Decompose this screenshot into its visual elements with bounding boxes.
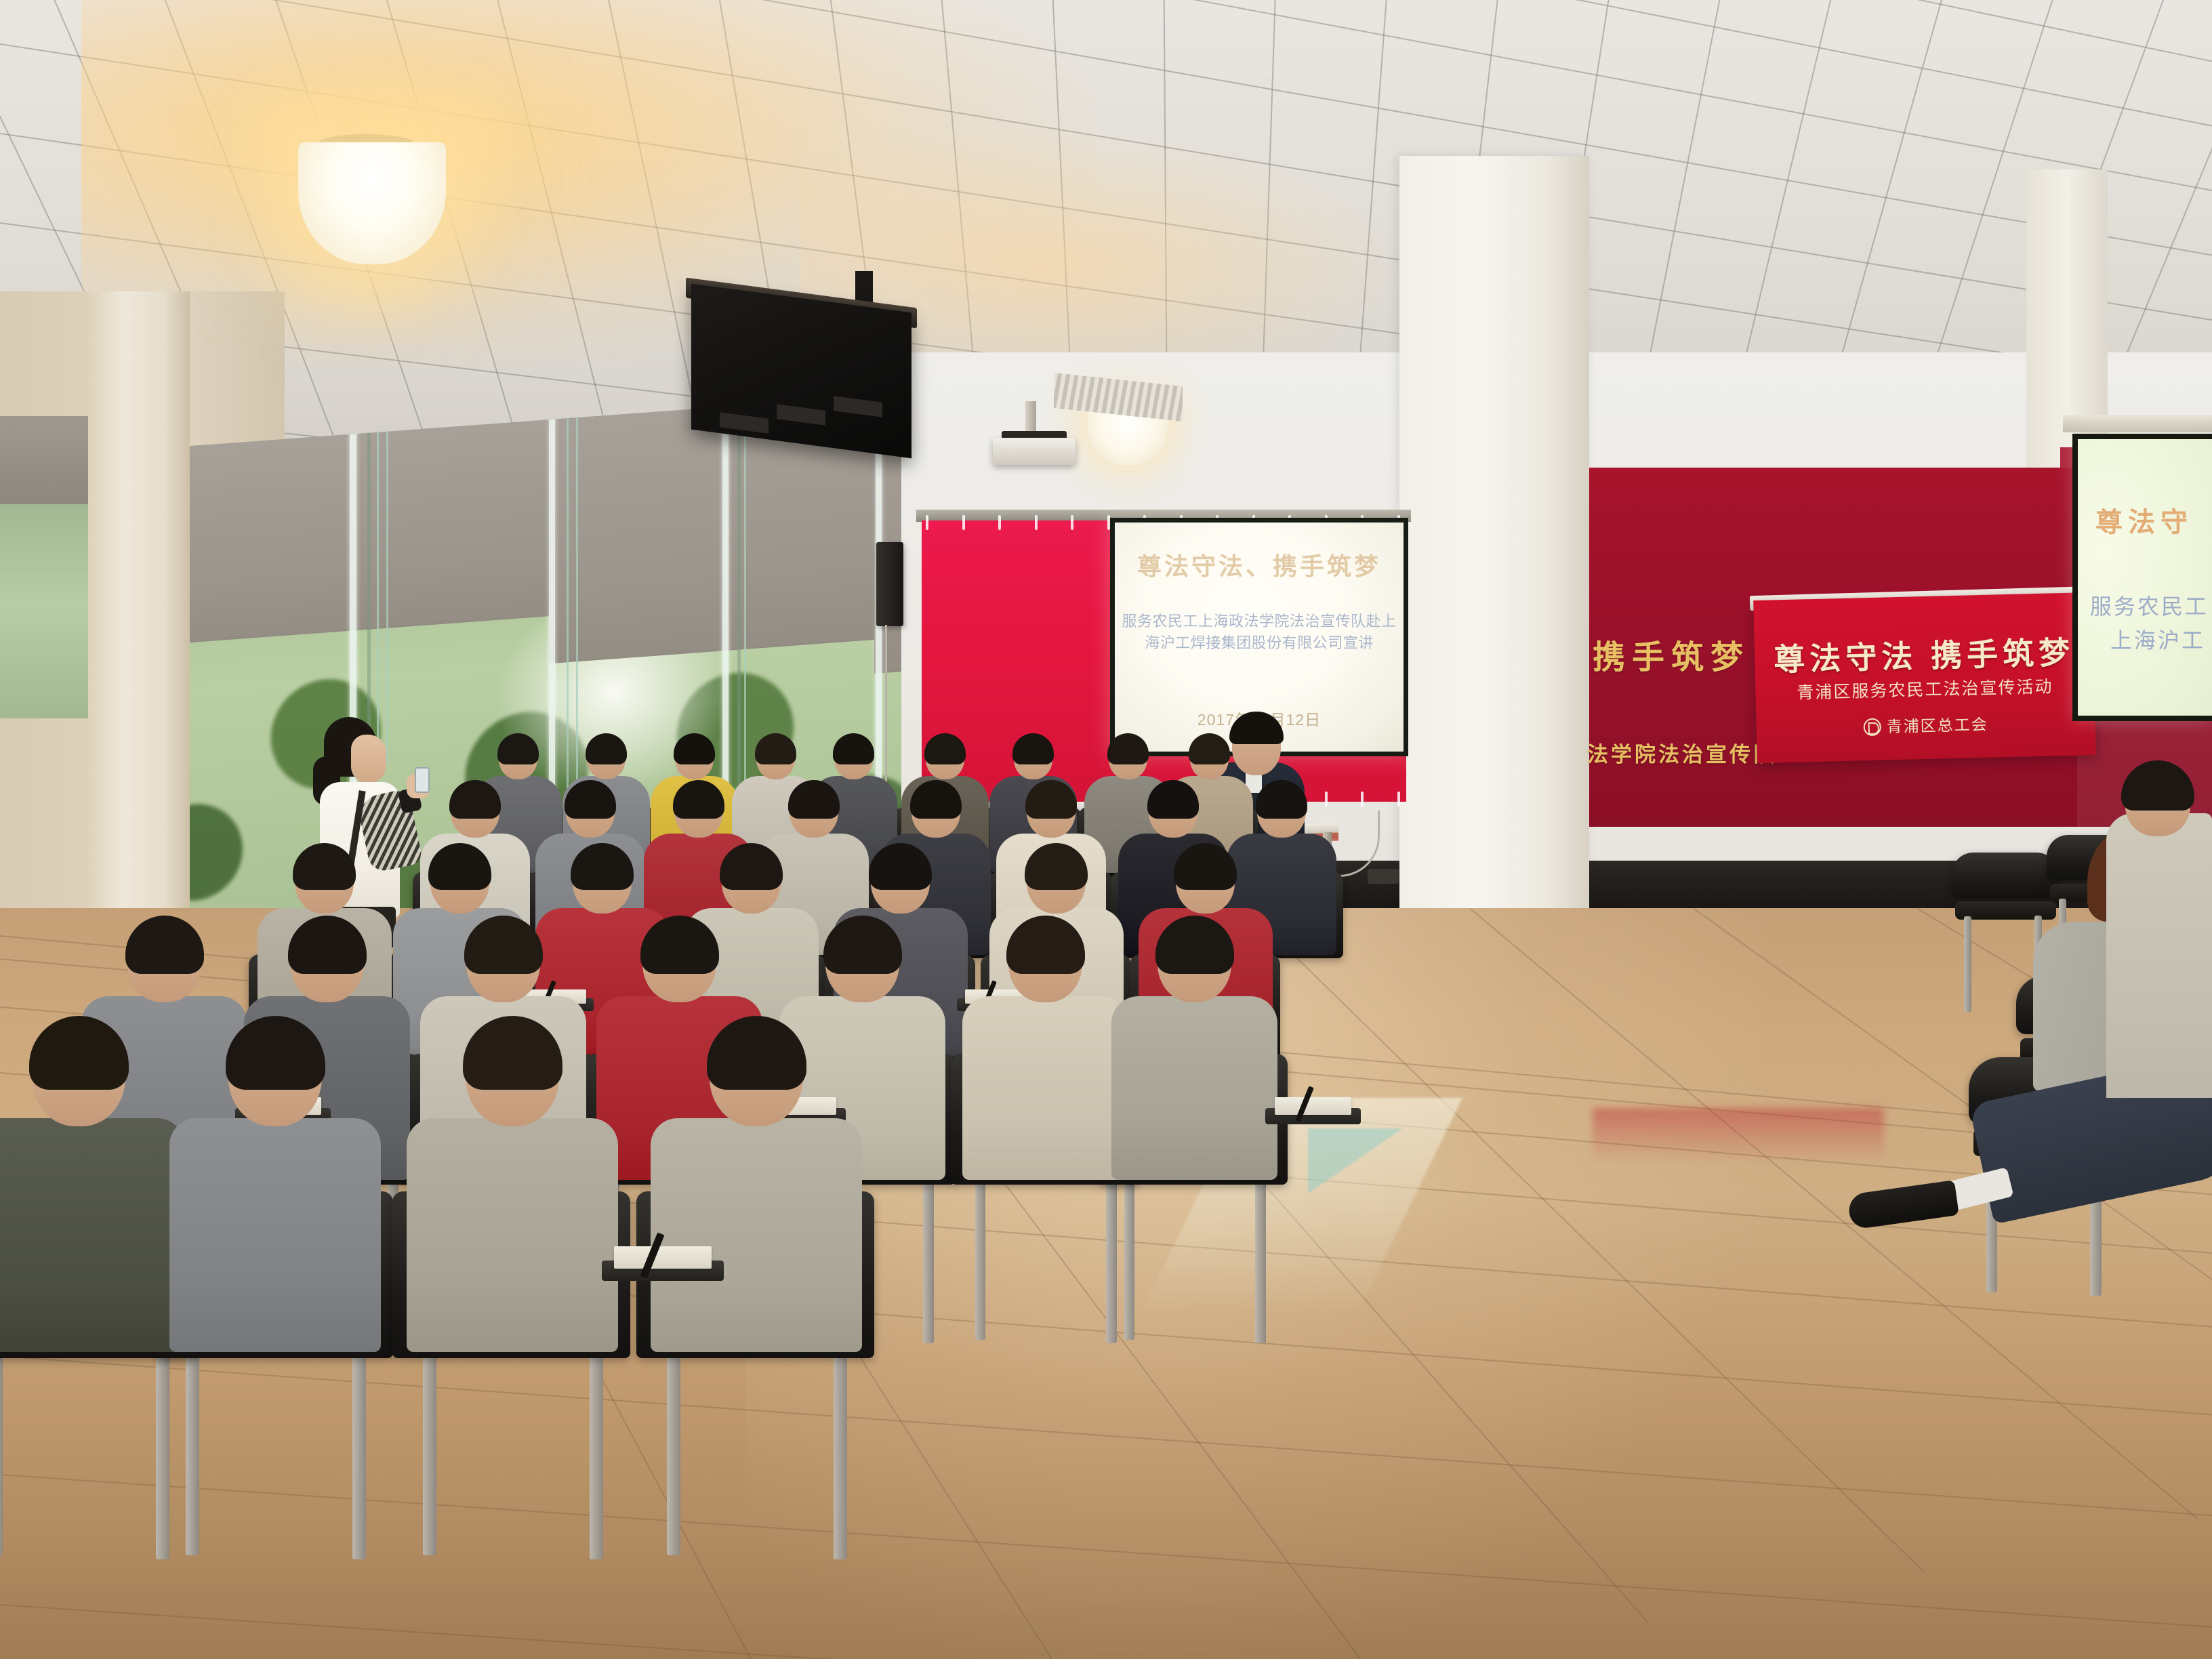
- chair-leg: [1255, 1179, 1265, 1343]
- roller-blind-1[interactable]: [183, 413, 549, 644]
- chair-leg: [0, 1352, 3, 1555]
- notebook[interactable]: [614, 1246, 712, 1269]
- blind-cord-4[interactable]: [576, 417, 578, 783]
- wall-speaker: [876, 542, 903, 626]
- blind-cord-5[interactable]: [744, 405, 746, 812]
- chair-leg: [834, 1350, 847, 1559]
- notebook[interactable]: [1275, 1097, 1351, 1115]
- chair-leg: [1106, 1179, 1116, 1343]
- audience-member-torso: [0, 1118, 184, 1352]
- blind-cord-3[interactable]: [567, 418, 569, 798]
- banner-reflection-on-floor: [1593, 1108, 1884, 1162]
- left-window-blind[interactable]: [0, 416, 88, 504]
- slide-right-title: 尊法守: [2095, 500, 2193, 539]
- audience-member-torso: [651, 1118, 862, 1352]
- backdrop-gold-line2: 法学院法治宣传队: [1587, 737, 1777, 768]
- ceiling-tile-line: [0, 0, 2212, 50]
- banner-title: 尊法守法 携手筑梦: [1754, 628, 2093, 680]
- phone-icon[interactable]: [415, 767, 430, 793]
- photographer-face: [351, 735, 386, 783]
- banner-organization: 青浦区总工会: [1756, 709, 2095, 740]
- structural-pillar-left: [88, 291, 190, 1010]
- chair-leg: [1124, 1180, 1134, 1340]
- blind-cord-2[interactable]: [386, 432, 388, 764]
- audience-member-torso: [962, 996, 1128, 1180]
- slogan-banner: 尊法守法 携手筑梦 青浦区服务农民工法治宣传活动 青浦区总工会: [1753, 592, 2096, 763]
- chair-leg: [667, 1352, 680, 1555]
- chair-leg: [590, 1350, 603, 1559]
- lecture-room-photo: 携手筑梦 法学院法治宣传队 尊法守法 携手筑梦 青浦区服务农民工法治宣传活动 青…: [0, 0, 2212, 1659]
- projection-screen-right: 尊法守 服务农民工 上海沪工: [2072, 434, 2212, 721]
- chair-leg: [975, 1180, 985, 1340]
- chair-leg: [352, 1350, 366, 1559]
- floor-socket: [1368, 869, 1399, 884]
- glass-reflection-triangle: [1308, 1128, 1403, 1193]
- audience-member-torso: [1111, 996, 1277, 1180]
- empty-chair-leg: [1964, 916, 1971, 1012]
- chair-leg: [423, 1352, 436, 1555]
- slide-right-line2: 上海沪工: [2110, 623, 2205, 655]
- ceiling-projector: [993, 438, 1076, 465]
- union-logo-icon: [1863, 718, 1881, 737]
- audience-member-far-right: [2106, 813, 2212, 1098]
- ceiling-speaker: [691, 284, 912, 459]
- empty-chair-back[interactable]: [1952, 853, 2058, 898]
- chair-leg: [156, 1350, 169, 1559]
- slide-body: 服务农民工上海政法学院法治宣传队赴上海沪工焊接集团股份有限公司宣讲: [1120, 611, 1398, 654]
- chair-leg: [923, 1179, 933, 1343]
- backdrop-gold-line1: 携手筑梦: [1593, 630, 1750, 678]
- audience-member-torso: [169, 1118, 381, 1352]
- slide-title: 尊法守法、携手筑梦: [1115, 547, 1404, 582]
- screen-right-rail: [2063, 415, 2212, 432]
- audience-member-torso: [407, 1118, 618, 1352]
- slide-right-line1: 服务农民工: [2090, 590, 2209, 621]
- chair-leg: [186, 1352, 199, 1555]
